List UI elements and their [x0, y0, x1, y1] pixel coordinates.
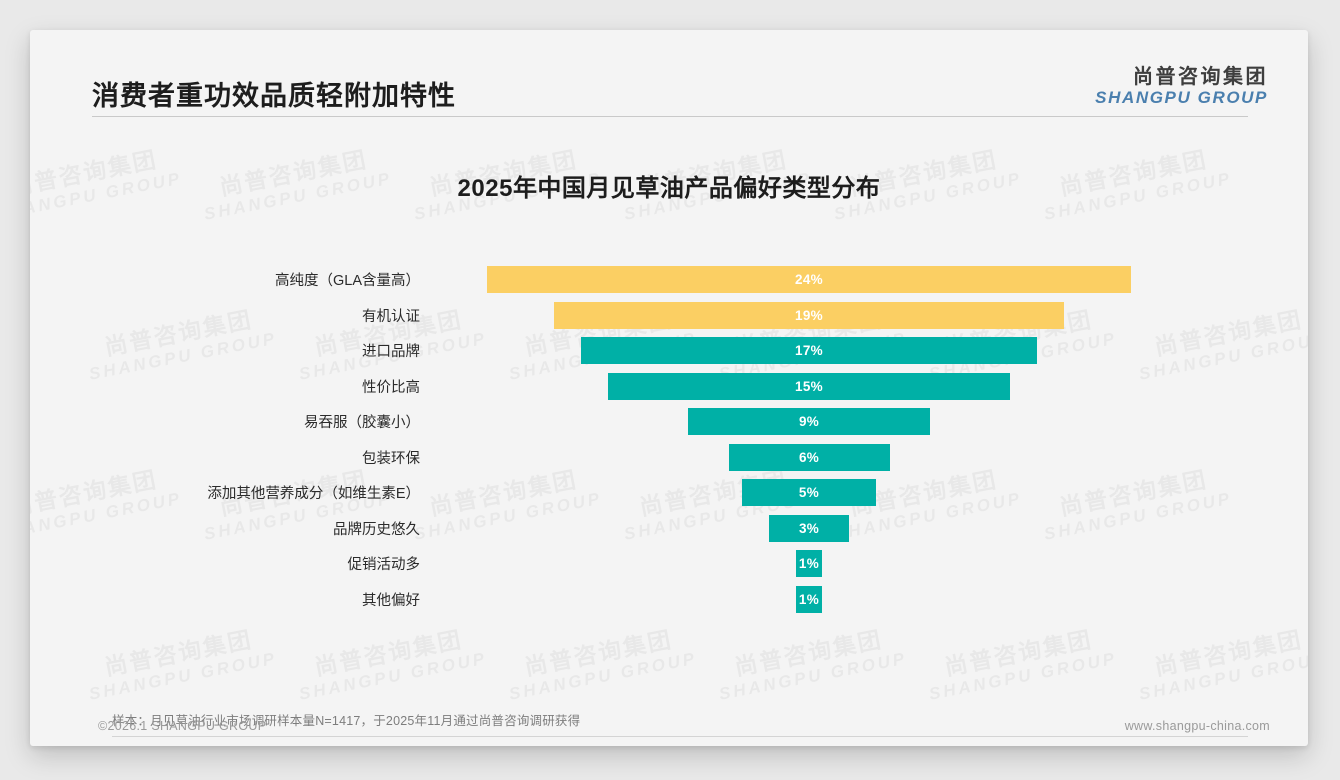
chart-row: 易吞服（胶囊小）9%	[30, 404, 1308, 440]
watermark-text: 尚普咨询集团SHANGPU GROUP	[292, 622, 489, 705]
bar-value-label: 6%	[799, 450, 819, 465]
chart-row: 其他偏好1%	[30, 582, 1308, 618]
bar-track: 24%	[442, 262, 1176, 298]
bar-segment[interactable]: 1%	[796, 586, 823, 613]
watermark-text: 尚普咨询集团SHANGPU GROUP	[1132, 622, 1308, 705]
brand-name-en: SHANGPU GROUP	[1095, 88, 1268, 107]
bar-track: 19%	[442, 298, 1176, 334]
slide-stage: 尚普咨询集团SHANGPU GROUP尚普咨询集团SHANGPU GROUP尚普…	[0, 0, 1340, 780]
slide-footer: ©2026.1 SHANGPU GROUP www.shangpu-china.…	[30, 708, 1308, 746]
chart-title: 2025年中国月见草油产品偏好类型分布	[30, 168, 1308, 203]
category-label: 性价比高	[30, 376, 434, 397]
chart-row: 进口品牌17%	[30, 333, 1308, 369]
bar-value-label: 17%	[795, 343, 823, 358]
brand-name-cn: 尚普咨询集团	[1095, 66, 1268, 88]
bar-segment[interactable]: 17%	[581, 337, 1037, 364]
bar-track: 15%	[442, 369, 1176, 405]
category-label: 促销活动多	[30, 553, 434, 574]
watermark-text: 尚普咨询集团SHANGPU GROUP	[922, 622, 1119, 705]
chart-row: 促销活动多1%	[30, 546, 1308, 582]
bar-value-label: 1%	[799, 592, 819, 607]
bar-value-label: 24%	[795, 272, 823, 287]
category-label: 有机认证	[30, 305, 434, 326]
watermark-text: 尚普咨询集团SHANGPU GROUP	[712, 622, 909, 705]
bar-segment[interactable]: 19%	[554, 302, 1064, 329]
chart-row: 包装环保6%	[30, 440, 1308, 476]
category-label: 品牌历史悠久	[30, 518, 434, 539]
bar-value-label: 19%	[795, 308, 823, 323]
category-label: 包装环保	[30, 447, 434, 468]
bar-segment[interactable]: 1%	[796, 550, 823, 577]
bar-value-label: 5%	[799, 485, 819, 500]
page-title: 消费者重功效品质轻附加特性	[92, 74, 456, 113]
bar-value-label: 1%	[799, 556, 819, 571]
watermark-text: 尚普咨询集团SHANGPU GROUP	[82, 622, 279, 705]
bar-track: 17%	[442, 333, 1176, 369]
chart-row: 有机认证19%	[30, 298, 1308, 334]
bar-segment[interactable]: 6%	[729, 444, 890, 471]
copyright-text: ©2026.1 SHANGPU GROUP	[98, 719, 266, 733]
slide-card: 尚普咨询集团SHANGPU GROUP尚普咨询集团SHANGPU GROUP尚普…	[30, 30, 1308, 746]
category-label: 进口品牌	[30, 340, 434, 361]
slide-header: 消费者重功效品质轻附加特性 尚普咨询集团 SHANGPU GROUP	[30, 30, 1308, 122]
bar-segment[interactable]: 9%	[688, 408, 930, 435]
bar-segment[interactable]: 15%	[608, 373, 1011, 400]
bar-track: 1%	[442, 546, 1176, 582]
bar-track: 5%	[442, 475, 1176, 511]
bar-segment[interactable]: 5%	[742, 479, 876, 506]
category-label: 高纯度（GLA含量高）	[30, 269, 434, 290]
website-link[interactable]: www.shangpu-china.com	[1125, 719, 1270, 733]
bar-track: 6%	[442, 440, 1176, 476]
watermark-text: 尚普咨询集团SHANGPU GROUP	[502, 622, 699, 705]
chart-row: 添加其他营养成分（如维生素E）5%	[30, 475, 1308, 511]
funnel-bar-chart: 高纯度（GLA含量高）24%有机认证19%进口品牌17%性价比高15%易吞服（胶…	[30, 262, 1308, 617]
category-label: 添加其他营养成分（如维生素E）	[30, 482, 434, 503]
category-label: 易吞服（胶囊小）	[30, 411, 434, 432]
bar-segment[interactable]: 24%	[487, 266, 1131, 293]
bar-value-label: 15%	[795, 379, 823, 394]
brand-logo: 尚普咨询集团 SHANGPU GROUP	[1095, 66, 1268, 107]
bar-value-label: 3%	[799, 521, 819, 536]
bar-track: 1%	[442, 582, 1176, 618]
chart-row: 高纯度（GLA含量高）24%	[30, 262, 1308, 298]
bar-value-label: 9%	[799, 414, 819, 429]
chart-row: 性价比高15%	[30, 369, 1308, 405]
header-divider	[92, 116, 1248, 117]
bar-track: 3%	[442, 511, 1176, 547]
category-label: 其他偏好	[30, 589, 434, 610]
chart-row: 品牌历史悠久3%	[30, 511, 1308, 547]
bar-segment[interactable]: 3%	[769, 515, 850, 542]
bar-track: 9%	[442, 404, 1176, 440]
